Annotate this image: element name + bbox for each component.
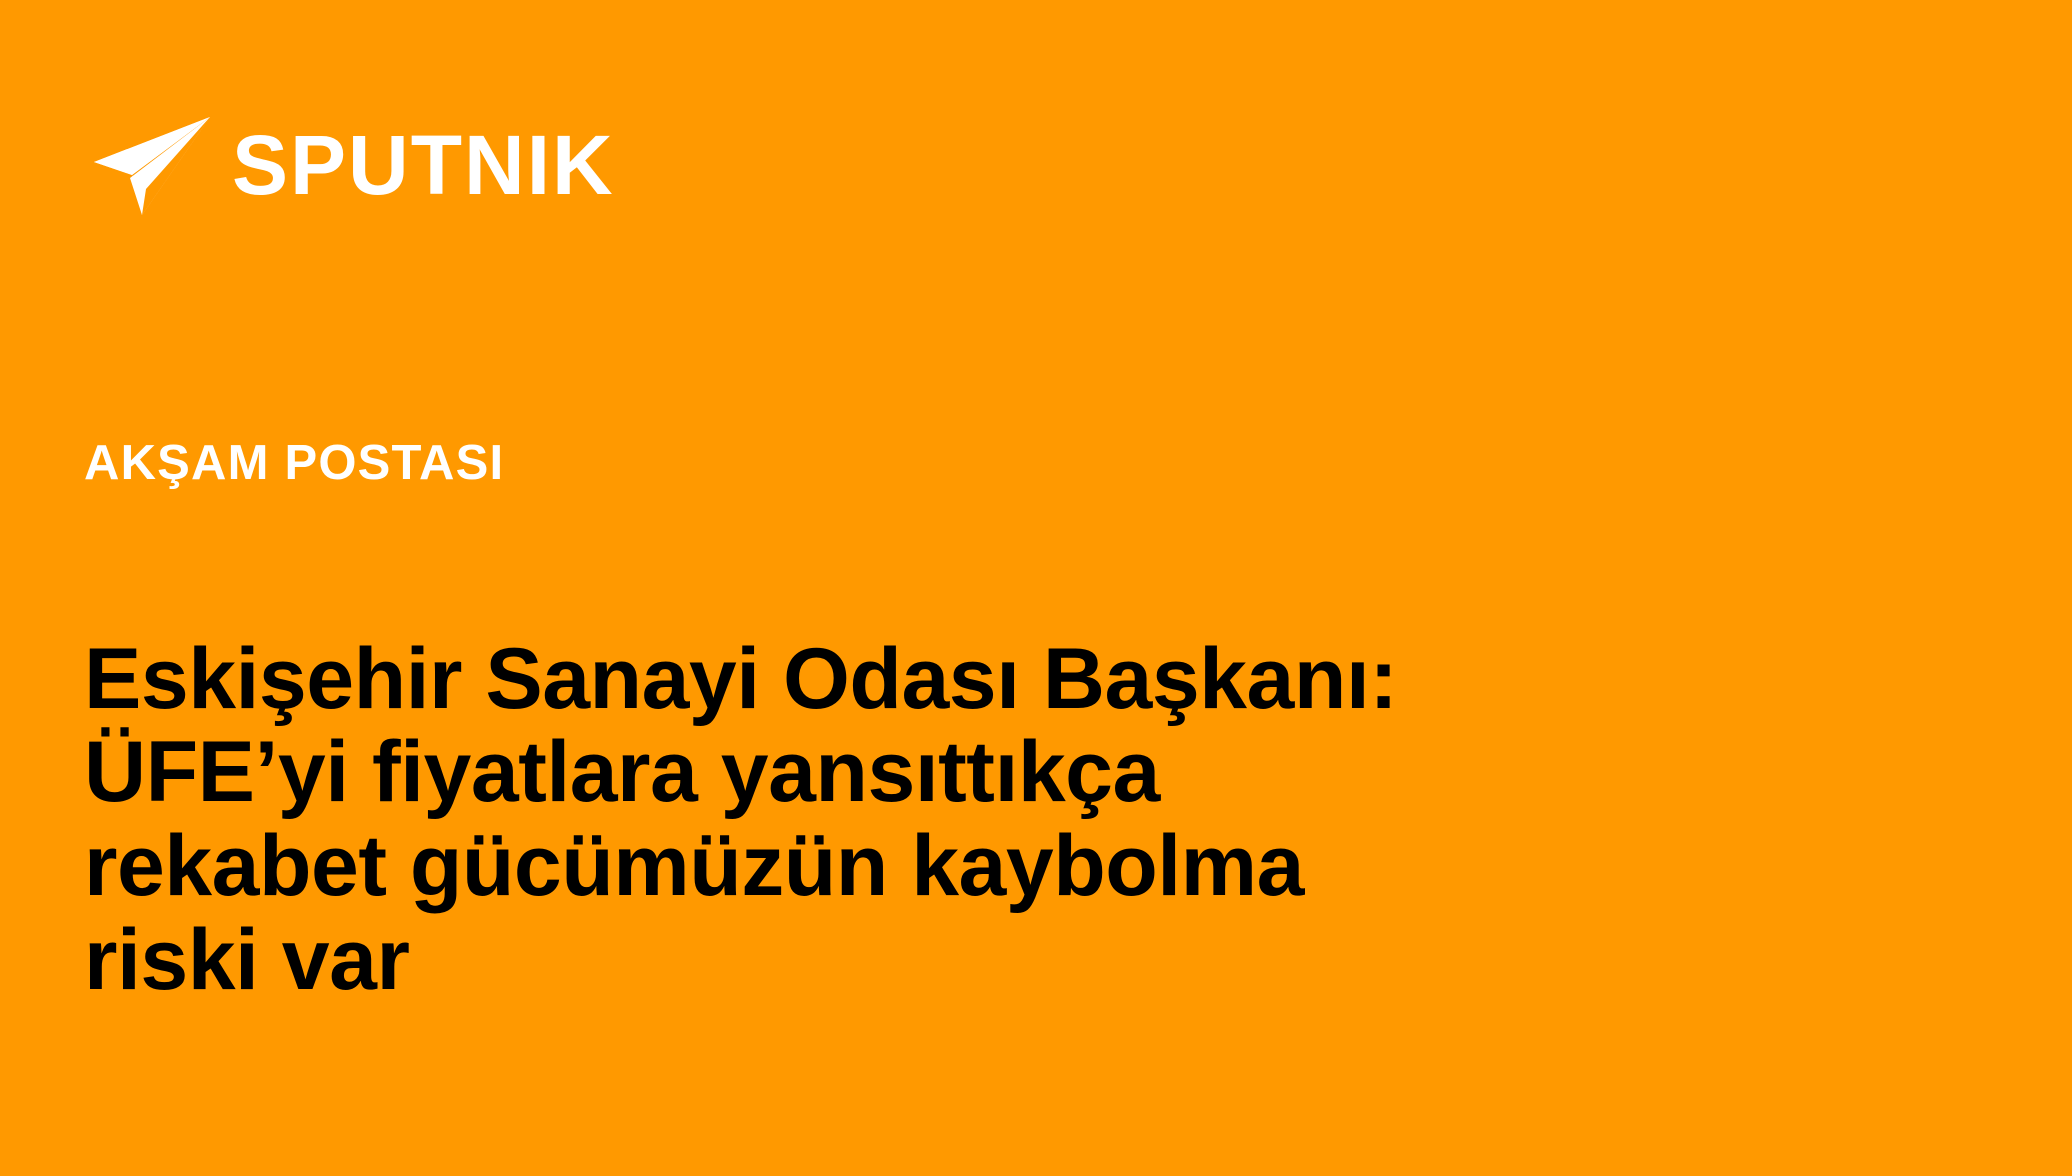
sputnik-wordmark: SPUTNIK (232, 123, 615, 207)
article-headline: Eskişehir Sanayi Odası Başkanı: ÜFE’yi f… (84, 633, 1974, 1008)
sputnik-arrow-icon (80, 115, 216, 219)
article-kicker: AKŞAM POSTASI (84, 437, 504, 491)
headline-line: riski var (84, 914, 1974, 1008)
headline-line: ÜFE’yi fiyatlara yansıttıkça (84, 726, 1974, 820)
news-share-card: SPUTNIK AKŞAM POSTASI Eskişehir Sanayi O… (0, 0, 2072, 1176)
headline-line: Eskişehir Sanayi Odası Başkanı: (84, 633, 1974, 727)
sputnik-logo[interactable]: SPUTNIK (80, 112, 615, 222)
headline-line: rekabet gücümüzün kaybolma (84, 820, 1974, 914)
